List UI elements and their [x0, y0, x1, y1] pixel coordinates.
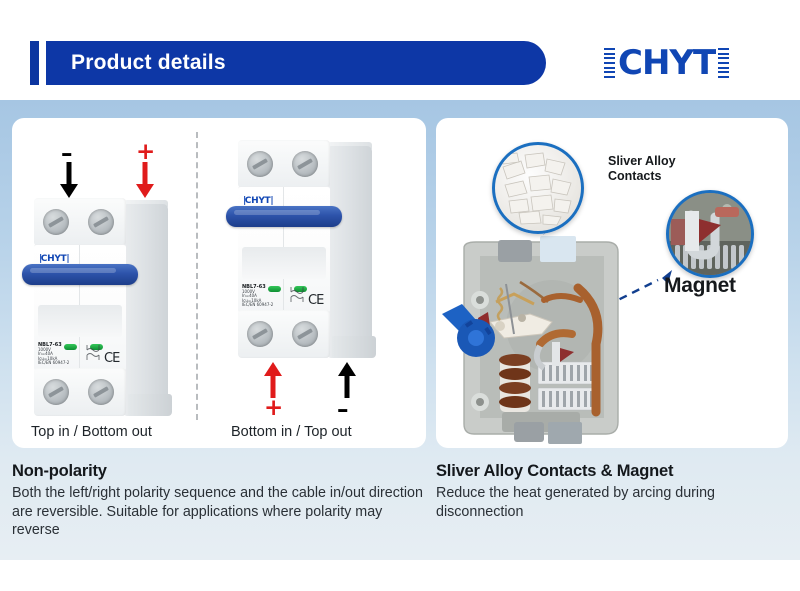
breaker-b-side-foot	[332, 336, 376, 358]
callout-label-magnet: Magnet	[664, 278, 736, 293]
breaker-a-terminal-top	[34, 198, 126, 246]
breaker-a-terminal-bottom	[34, 368, 126, 416]
contacts-magnet-title: Sliver Alloy Contacts & Magnet	[436, 462, 786, 481]
breaker-a-wiring-diagram-icon	[84, 343, 102, 363]
terminal-screw-icon	[247, 151, 273, 177]
text-block-non-polarity: Non-polarity Both the left/right polarit…	[12, 462, 432, 540]
breaker-b-wiring-diagram-icon	[288, 285, 306, 305]
cutaway-toggle-handle[interactable]	[436, 298, 506, 368]
polarity-sign-positive-a: +	[136, 144, 155, 160]
logo-stripe-right-outer	[725, 48, 729, 78]
header-accent-bar	[30, 41, 39, 85]
panel-divider	[196, 132, 198, 420]
terminal-screw-icon	[43, 379, 69, 405]
non-polarity-title: Non-polarity	[12, 462, 432, 481]
caption-top-in-bottom-out: Top in / Bottom out	[31, 424, 152, 440]
breaker-a-ce-mark: CE	[104, 351, 119, 366]
page-title: Product details	[71, 41, 226, 85]
arrow-up-black-b	[336, 362, 358, 398]
callout-circle-magnet	[666, 190, 754, 278]
polarity-sign-negative-a: –	[61, 146, 73, 162]
text-block-contacts-magnet: Sliver Alloy Contacts & Magnet Reduce th…	[436, 462, 786, 521]
header-banner: Product details	[46, 41, 546, 85]
arrow-down-red-a	[134, 162, 156, 198]
breaker-a-indicator-left	[64, 344, 77, 350]
terminal-screw-icon	[43, 209, 69, 235]
breaker-a-front: |CHYT| NBL7-63 1000V In=40A Icu=10kA IEC…	[34, 198, 126, 416]
breaker-b-side-body	[328, 146, 372, 358]
breaker-b-lever-slot	[242, 247, 326, 279]
arrow-down-black-a	[58, 162, 80, 198]
breaker-b-ce-mark: CE	[308, 293, 323, 308]
breaker-b-terminal-bottom	[238, 310, 330, 358]
callout-circle-silver-contacts	[492, 142, 584, 234]
polarity-sign-negative-b: –	[337, 402, 349, 418]
breaker-a-brand-label: |CHYT|	[39, 254, 68, 264]
breaker-cutaway-illustration: Sliver Alloy Contacts	[436, 118, 788, 448]
silver-contact-chips	[495, 145, 581, 231]
logo-stripe-right	[718, 48, 725, 78]
slide-header: Product details CHYT	[0, 0, 800, 100]
callout-label-silver-contacts: Sliver Alloy Contacts	[608, 154, 676, 184]
polarity-sign-positive-b: +	[264, 400, 283, 416]
chyt-logo: CHYT	[604, 44, 729, 82]
magnet-detail-photo	[669, 193, 751, 275]
contacts-magnet-body: Reduce the heat generated by arcing duri…	[436, 484, 786, 521]
breaker-b-indicator-left	[268, 286, 281, 292]
terminal-screw-icon	[247, 321, 273, 347]
breaker-a-toggle-lever[interactable]	[22, 264, 138, 285]
breaker-a-side-body	[124, 204, 168, 416]
terminal-screw-icon	[88, 379, 114, 405]
breaker-a-side-foot	[128, 394, 172, 416]
breaker-a-lever-slot	[38, 305, 122, 337]
caption-bottom-in-top-out: Bottom in / Top out	[231, 424, 352, 440]
breaker-b-terminal-top	[238, 140, 330, 188]
breaker-b-toggle-lever[interactable]	[226, 206, 342, 227]
terminal-screw-icon	[292, 151, 318, 177]
non-polarity-body: Both the left/right polarity sequence an…	[12, 484, 432, 540]
breaker-b-front: |CHYT| NBL7-63 1000V In=40A Icu=10kA IEC…	[238, 140, 330, 358]
product-details-slide: Product details CHYT – +	[0, 0, 800, 591]
terminal-screw-icon	[88, 209, 114, 235]
breaker-b-brand-label: |CHYT|	[243, 196, 272, 206]
terminal-screw-icon	[292, 321, 318, 347]
arrow-up-red-b	[262, 362, 284, 398]
logo-text: CHYT	[618, 46, 715, 80]
logo-stripe-left	[608, 48, 615, 78]
